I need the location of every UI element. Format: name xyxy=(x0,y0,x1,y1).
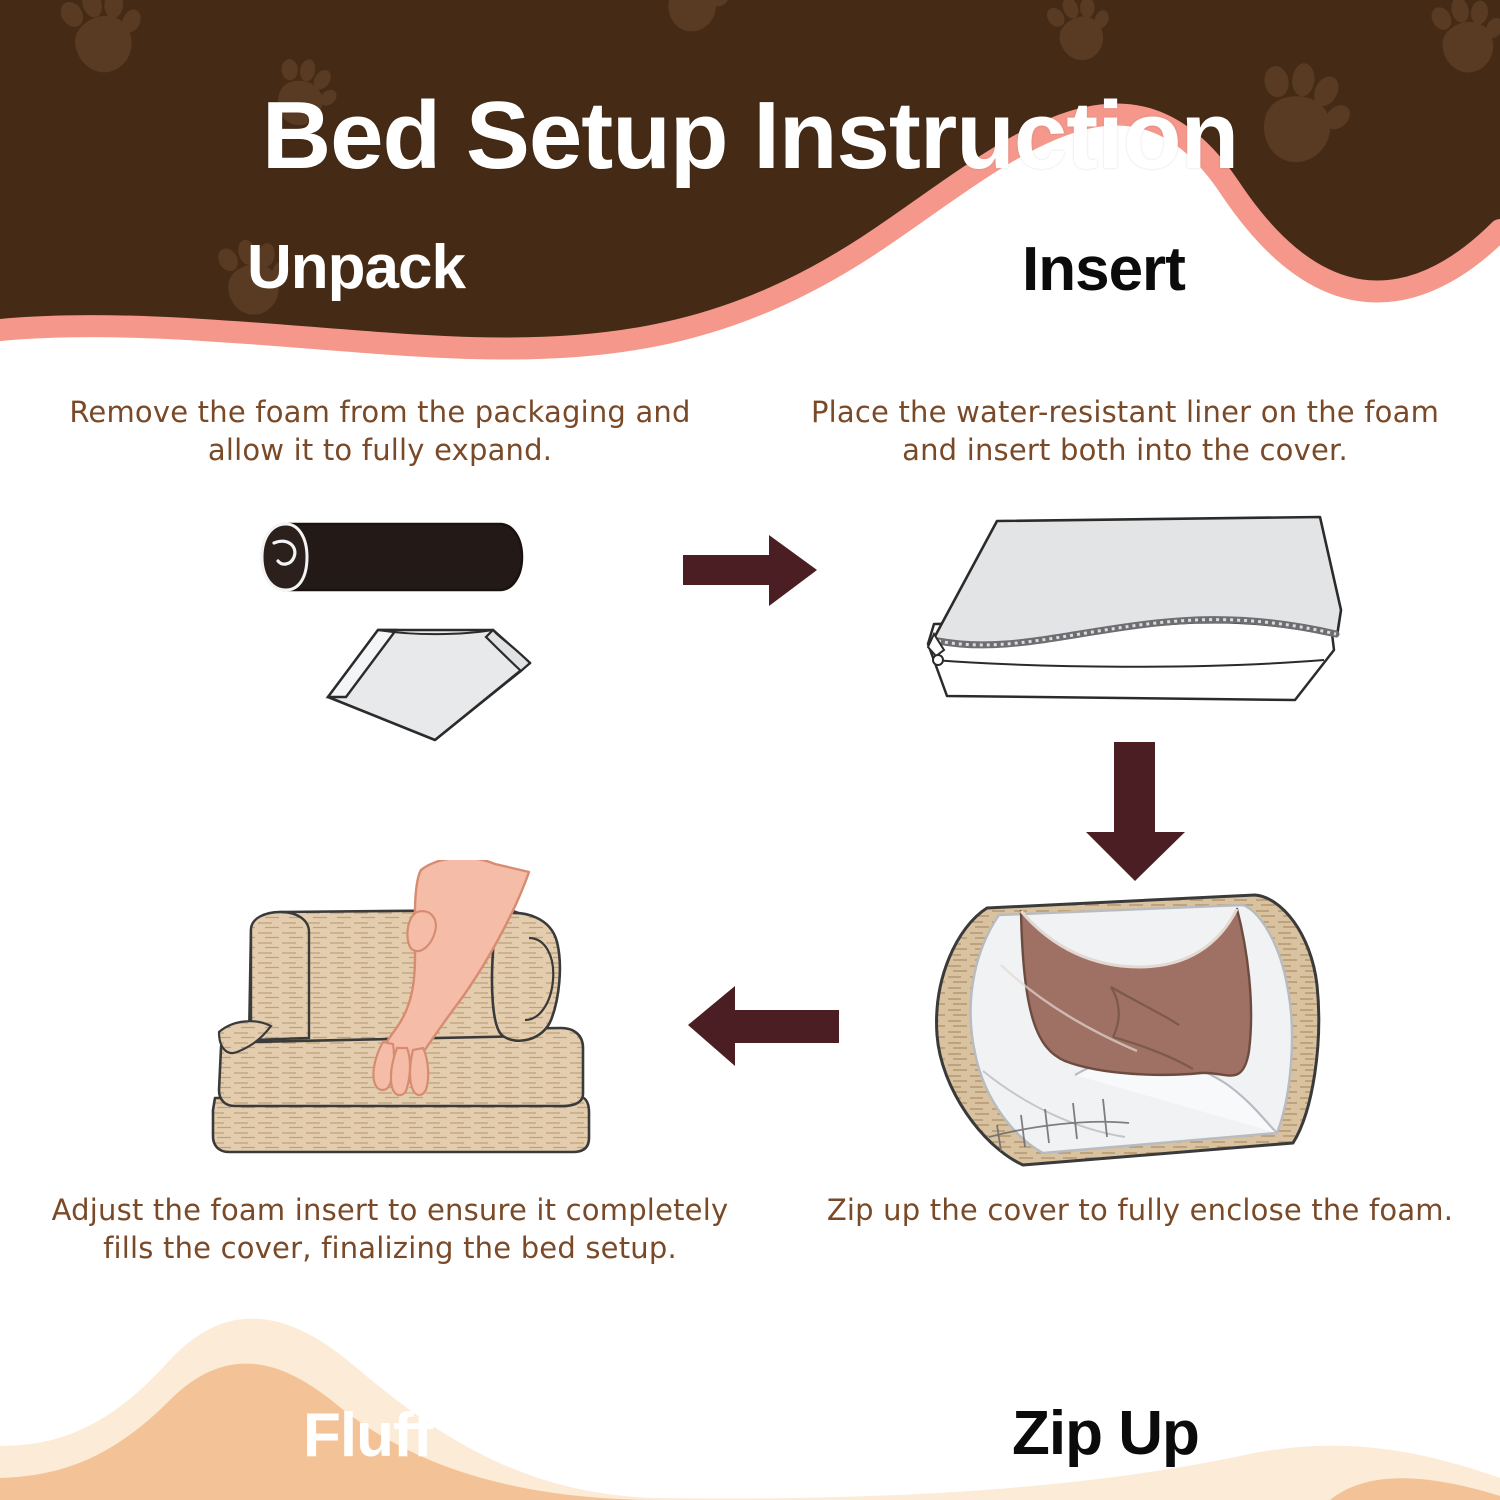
rolled-foam-icon xyxy=(262,524,522,590)
illustration-hand-pressing-bed xyxy=(185,860,625,1180)
illustration-cover-with-foam xyxy=(925,875,1340,1185)
illustration-zippered-cushion xyxy=(900,500,1350,710)
arrow-right-icon xyxy=(683,533,818,608)
infographic-page: Bed Setup Instruction Unpack Insert Remo… xyxy=(0,0,1500,1500)
step-title-zip-up: Zip Up xyxy=(1012,1398,1199,1469)
footer-band xyxy=(0,1300,1500,1500)
caption-unpack: Remove the foam from the packaging and a… xyxy=(55,394,705,469)
folded-liner-icon xyxy=(328,630,530,740)
illustration-rolled-foam-and-liner xyxy=(250,505,730,755)
step-title-fluff: Fluff xyxy=(303,1400,432,1471)
page-title: Bed Setup Instruction xyxy=(0,86,1500,187)
arrow-down-icon xyxy=(1083,742,1188,882)
caption-insert: Place the water-resistant liner on the f… xyxy=(800,394,1450,469)
step-title-unpack: Unpack xyxy=(247,232,465,303)
step-title-insert: Insert xyxy=(1022,234,1185,305)
arrow-left-icon xyxy=(685,982,840,1070)
caption-zip-up: Zip up the cover to fully enclose the fo… xyxy=(820,1192,1460,1230)
caption-fluff: Adjust the foam insert to ensure it comp… xyxy=(45,1192,735,1267)
